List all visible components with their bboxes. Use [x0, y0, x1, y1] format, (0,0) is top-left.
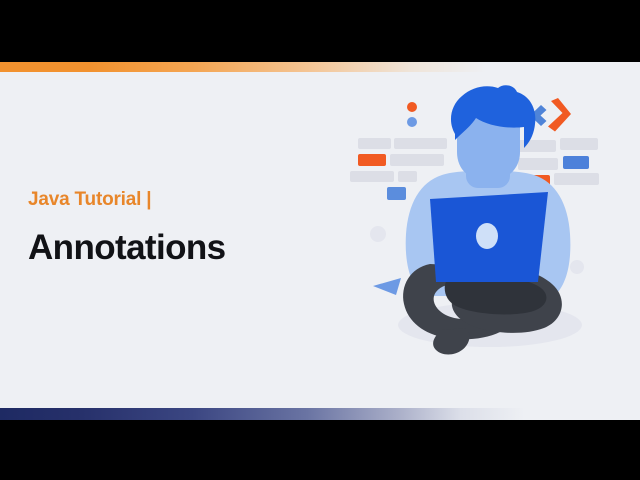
eyebrow-label: Java Tutorial | [28, 190, 328, 209]
accent-bar-top [0, 62, 640, 72]
page-title: Annotations [28, 230, 328, 265]
developer-illustration [338, 82, 638, 382]
title-text-block: Java Tutorial | Annotations [28, 190, 328, 265]
video-slide-frame: Java Tutorial | Annotations [0, 0, 640, 480]
letterbox-bar-top [0, 0, 640, 62]
laptop-logo [476, 223, 498, 249]
accent-bar-bottom [0, 408, 640, 420]
dot-gray-left-icon [370, 226, 386, 242]
dot-orange-icon [407, 102, 417, 112]
code-brackets-icon [530, 98, 571, 132]
dot-blue-icon [407, 117, 417, 127]
dot-gray-right-icon [570, 260, 584, 274]
triangle-left-lower-icon [373, 278, 401, 295]
letterbox-bar-bottom [0, 420, 640, 480]
slide-canvas: Java Tutorial | Annotations [0, 62, 640, 420]
